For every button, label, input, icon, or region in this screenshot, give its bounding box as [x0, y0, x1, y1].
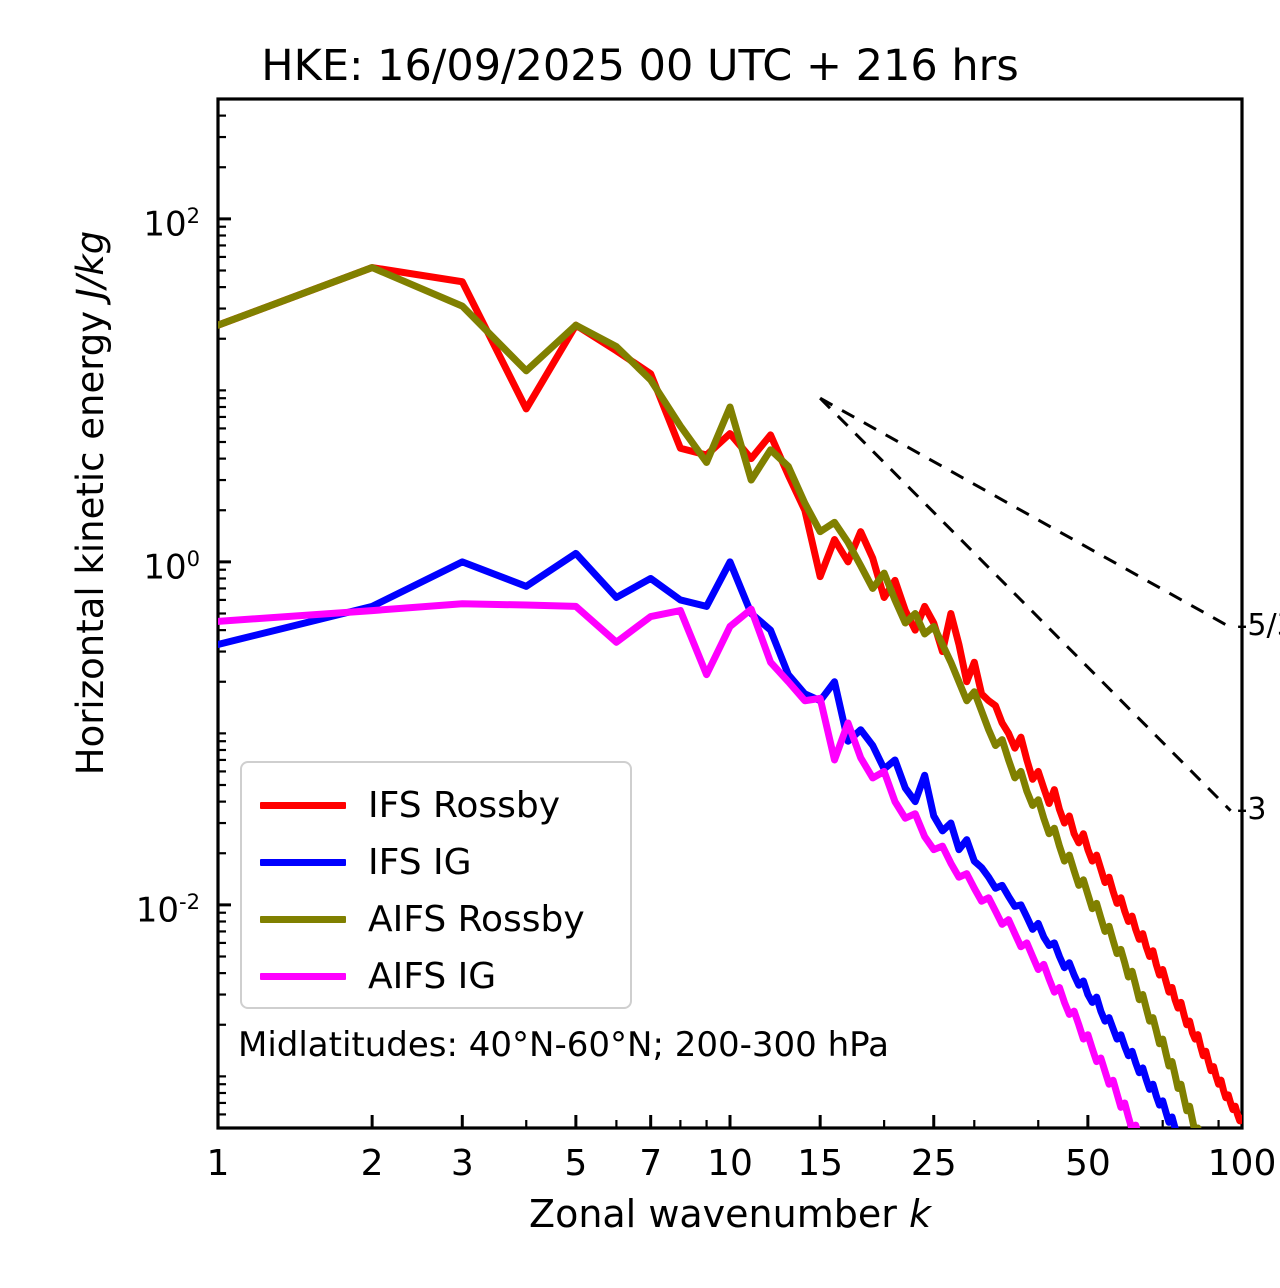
legend-item-label: AIFS IG	[368, 959, 496, 995]
x-tick-label: 25	[874, 1146, 994, 1182]
x-tick-label: 3	[402, 1146, 522, 1182]
slope-label: -3	[1237, 795, 1267, 825]
x-tick-label: 1	[158, 1146, 278, 1182]
legend-item[interactable]: AIFS IG	[260, 948, 612, 1005]
region-annotation: Midlatitudes: 40°N-60°N; 200-300 hPa	[238, 1026, 889, 1064]
legend-item-label: AIFS Rossby	[368, 902, 585, 938]
legend-color-swatch	[260, 973, 346, 980]
legend-item[interactable]: IFS IG	[260, 834, 612, 891]
y-tick-label: 102	[60, 199, 200, 241]
plot-canvas	[0, 0, 1280, 1288]
slope-label: -5/3	[1237, 611, 1280, 641]
legend-color-swatch	[260, 802, 346, 809]
x-tick-label: 15	[760, 1146, 880, 1182]
legend-item-label: IFS Rossby	[368, 788, 560, 824]
legend-item[interactable]: IFS Rossby	[260, 777, 612, 834]
y-tick-label: 100	[60, 542, 200, 584]
legend-color-swatch	[260, 916, 346, 923]
legend-item-label: IFS IG	[368, 845, 472, 881]
legend-item[interactable]: AIFS Rossby	[260, 891, 612, 948]
legend: IFS RossbyIFS IGAIFS RossbyAIFS IG	[240, 761, 632, 1009]
legend-color-swatch	[260, 859, 346, 866]
x-tick-label: 50	[1028, 1146, 1148, 1182]
x-tick-label: 100	[1182, 1146, 1280, 1182]
y-tick-label: 10-2	[60, 885, 200, 927]
chart-root: HKE: 16/09/2025 00 UTC + 216 hrs Horizon…	[0, 0, 1280, 1288]
